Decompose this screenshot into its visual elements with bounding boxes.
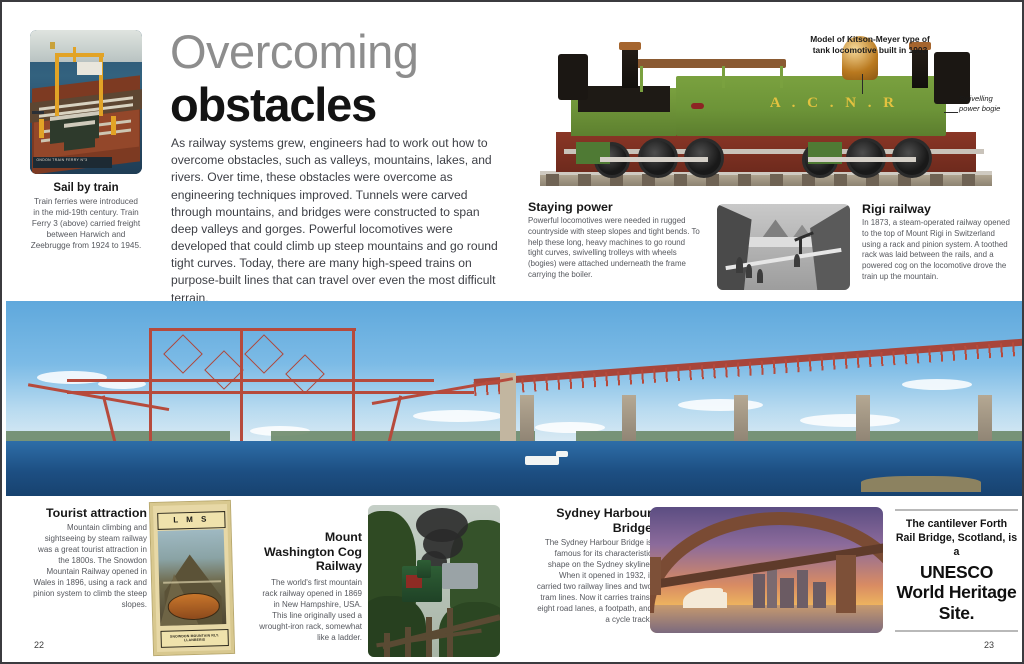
rigi-railway-engraving-image — [717, 204, 850, 290]
sydney-harbour-heading: Sydney Harbour Bridge — [534, 506, 652, 535]
sydney-harbour-block: Sydney Harbour Bridge The Sydney Harbour… — [534, 506, 652, 626]
sail-by-train-image: ONDON TRAIN FERRY N°3 — [30, 30, 142, 174]
sydney-harbour-bridge-photo — [650, 507, 883, 633]
tourist-attraction-body: Mountain climbing and sightseeing by ste… — [30, 522, 147, 610]
staying-power-heading: Staying power — [528, 200, 700, 214]
callout-bottom-rule — [895, 630, 1018, 632]
sail-by-train-body: Train ferries were introduced in the mid… — [30, 197, 142, 252]
sail-by-train-block: ONDON TRAIN FERRY N°3 Sail by train Trai… — [30, 30, 142, 252]
staying-power-block: Staying power Powerful locomotives were … — [528, 200, 700, 281]
rigi-railway-heading: Rigi railway — [862, 202, 1012, 216]
page-number-right: 23 — [984, 640, 994, 650]
lms-poster-title-band: L M S — [157, 511, 226, 530]
intro-paragraph: As railway systems grew, engineers had t… — [171, 135, 501, 307]
book-spread-page: ONDON TRAIN FERRY N°3 Sail by train Trai… — [0, 0, 1024, 664]
unesco-callout-big-text: UNESCO World Heritage Site. — [895, 562, 1018, 623]
locomotive-annotation-bogie: Swivelling power bogie — [959, 94, 1011, 114]
rigi-railway-body: In 1873, a steam-operated railway opened… — [862, 218, 1012, 283]
staying-power-body: Powerful locomotives were needed in rugg… — [528, 216, 700, 281]
mount-washington-body: The world's first mountain rack railway … — [259, 577, 362, 643]
page-number-left: 22 — [34, 640, 44, 650]
lms-poster-title: L M S — [158, 512, 225, 527]
mount-washington-block: Mount Washington Cog Railway The world's… — [259, 530, 362, 643]
sydney-harbour-body: The Sydney Harbour Bridge is famous for … — [534, 537, 652, 625]
lms-poster-footer-band: SNOWDON MOUNTAIN RLY. LLANBERIS — [160, 629, 229, 648]
ferry-label-strip: ONDON TRAIN FERRY N°3 — [33, 157, 111, 169]
locomotive-leader-line-side — [944, 112, 958, 113]
cog-railway-photo — [368, 505, 500, 657]
page-title-line1: Overcoming — [170, 26, 418, 78]
sail-by-train-heading: Sail by train — [30, 182, 142, 194]
rigi-railway-block: Rigi railway In 1873, a steam-operated r… — [862, 202, 1012, 283]
locomotive-annotation-main: Model of Kitson-Meyer type of tank locom… — [810, 34, 930, 56]
unesco-callout: The cantilever Forth Rail Bridge, Scotla… — [895, 509, 1018, 632]
unesco-callout-small-text: The cantilever Forth Rail Bridge, Scotla… — [895, 518, 1018, 560]
lms-poster-footer: SNOWDON MOUNTAIN RLY. LLANBERIS — [161, 630, 228, 643]
tourist-attraction-heading: Tourist attraction — [30, 506, 147, 520]
locomotive-livery-text: A . C . N . R — [744, 95, 924, 112]
forth-bridge-banner-image: Crossing water The Firth of Forth bridge… — [6, 301, 1024, 496]
kitson-meyer-locomotive-image: A . C . N . R — [516, 22, 1016, 192]
lms-poster-image: L M S SNOWDON MOUNTAIN RLY. LLANBERIS — [152, 502, 232, 654]
page-title-line2: obstacles — [170, 79, 376, 131]
mount-washington-heading: Mount Washington Cog Railway — [259, 530, 362, 574]
ferry-label-text: ONDON TRAIN FERRY N°3 — [33, 157, 111, 162]
tourist-attraction-block: Tourist attraction Mountain climbing and… — [30, 506, 147, 610]
callout-top-rule — [895, 509, 1018, 511]
locomotive-leader-line-main — [862, 74, 863, 94]
spread-canvas: ONDON TRAIN FERRY N°3 Sail by train Trai… — [4, 4, 1020, 660]
